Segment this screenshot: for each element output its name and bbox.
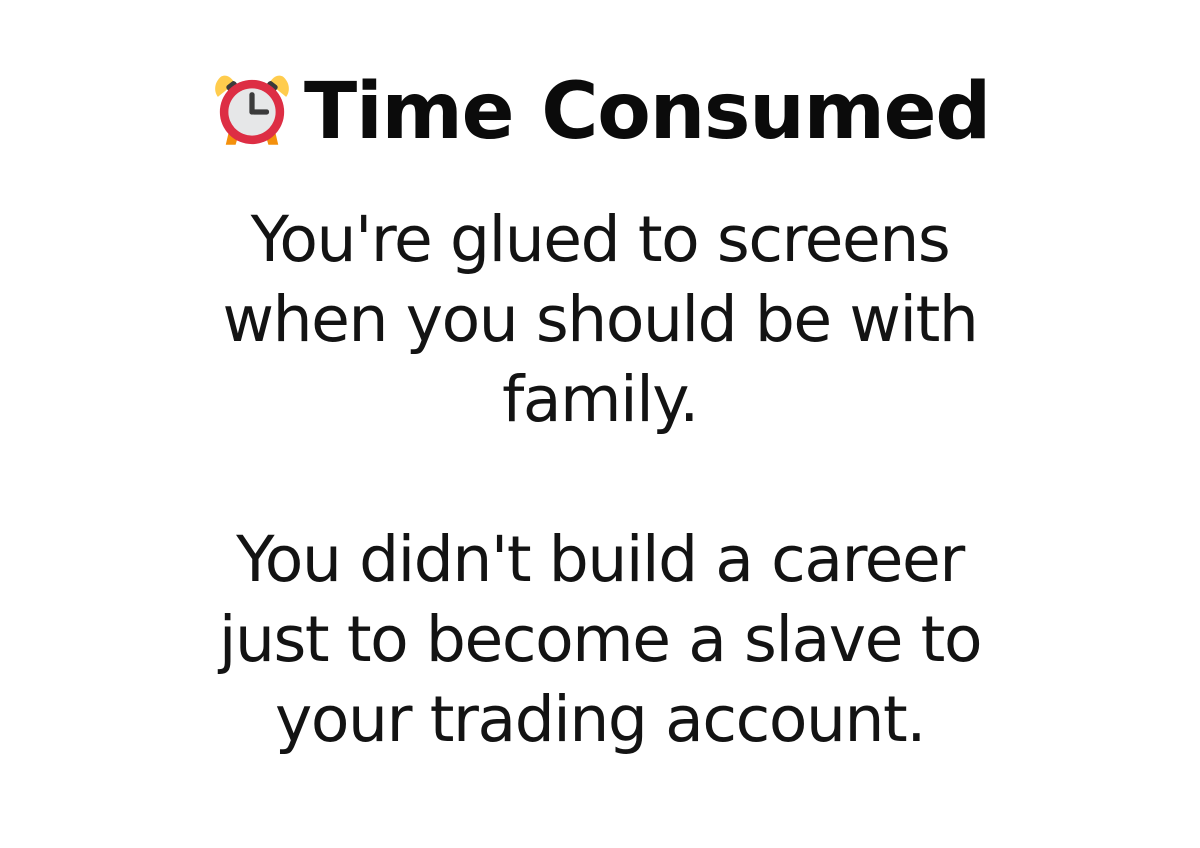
page-title: Time Consumed — [190, 58, 1010, 166]
paragraph-spacer — [195, 440, 1005, 520]
body-copy: You're glued to screens when you should … — [195, 166, 1005, 760]
paragraph-2: You didn't build a career just to become… — [195, 520, 1005, 760]
paragraph-1: You're glued to screens when you should … — [195, 200, 1005, 440]
alarm-clock-icon — [210, 68, 294, 152]
slide-canvas: Time Consumed You're glued to screens wh… — [0, 0, 1200, 848]
page-title-text: Time Consumed — [304, 67, 990, 157]
